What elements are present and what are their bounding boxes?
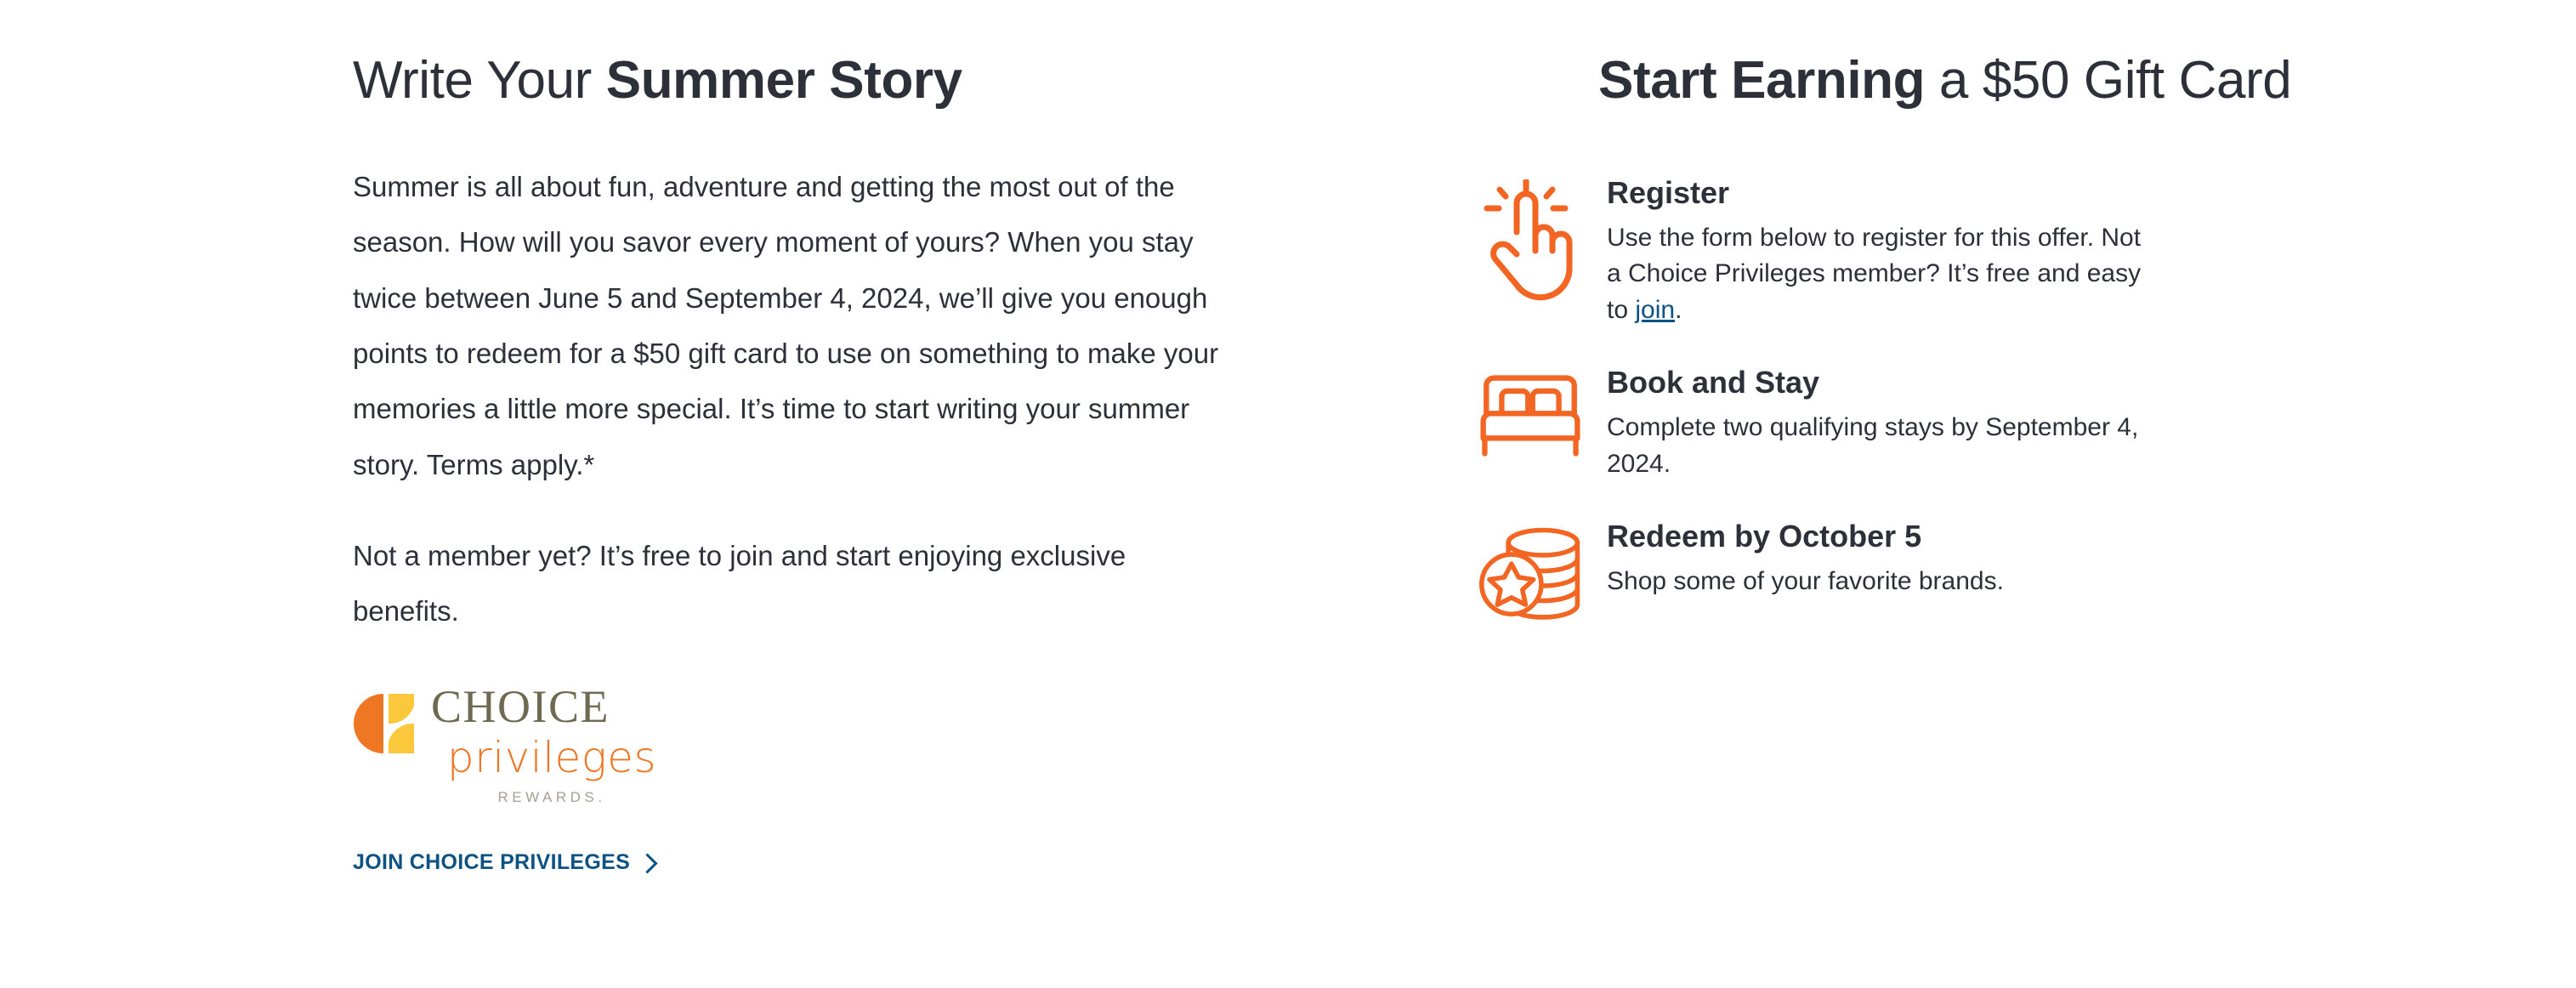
page-title: Write Your Summer Story	[353, 53, 1288, 110]
step-register: Register Use the form below to register …	[1454, 176, 2474, 328]
step-redeem-body: Redeem by October 5 Shop some of your fa…	[1607, 520, 2159, 599]
intro-paragraph-1: Summer is all about fun, adventure and g…	[353, 159, 1254, 492]
left-column: Write Your Summer Story Summer is all ab…	[353, 53, 1288, 811]
bed-icon	[1454, 366, 1607, 463]
join-inline-link[interactable]: join	[1635, 296, 1675, 324]
step-redeem-description: Shop some of your favorite brands.	[1607, 564, 2159, 600]
earning-title-bold: Start Earning	[1598, 51, 1925, 110]
logo-word-choice: CHOICE	[431, 684, 669, 730]
step-register-text-after: .	[1675, 296, 1682, 324]
page-title-bold: Summer Story	[606, 51, 962, 110]
choice-logo-mark-icon	[353, 692, 417, 755]
join-choice-privileges-link[interactable]: JOIN CHOICE PRIVILEGES	[353, 850, 655, 875]
step-register-text-before: Use the form below to register for this …	[1607, 224, 2141, 324]
join-choice-privileges-label: JOIN CHOICE PRIVILEGES	[353, 850, 630, 875]
step-book-and-stay: Book and Stay Complete two qualifying st…	[1454, 366, 2474, 482]
intro-paragraph-2: Not a member yet? It’s free to join and …	[353, 528, 1237, 639]
step-redeem-title: Redeem by October 5	[1607, 520, 2159, 554]
step-register-body: Register Use the form below to register …	[1607, 176, 2159, 328]
step-book-and-stay-title: Book and Stay	[1607, 366, 2159, 400]
page-title-regular: Write Your	[353, 51, 606, 110]
promo-page: Write Your Summer Story Summer is all ab…	[0, 0, 2576, 988]
step-register-title: Register	[1607, 176, 2159, 210]
earning-title-regular: a $50 Gift Card	[1925, 51, 2291, 110]
step-redeem: Redeem by October 5 Shop some of your fa…	[1454, 520, 2474, 628]
coins-star-icon	[1454, 520, 1607, 628]
step-register-description: Use the form below to register for this …	[1607, 220, 2159, 329]
step-book-and-stay-body: Book and Stay Complete two qualifying st…	[1607, 366, 2159, 482]
tap-hand-icon	[1454, 176, 1607, 307]
choice-privileges-logo: CHOICE privileges REWARDS.	[353, 684, 667, 811]
chevron-right-icon	[638, 853, 658, 873]
logo-word-rewards: REWARDS.	[431, 789, 672, 806]
step-book-and-stay-description: Complete two qualifying stays by Septemb…	[1607, 410, 2159, 482]
logo-word-privileges: privileges	[431, 736, 672, 779]
earning-title: Start Earning a $50 Gift Card	[1454, 53, 2474, 110]
choice-logo-wordmark: CHOICE privileges REWARDS.	[431, 684, 669, 806]
right-column: Start Earning a $50 Gift Card Register	[1454, 53, 2474, 666]
